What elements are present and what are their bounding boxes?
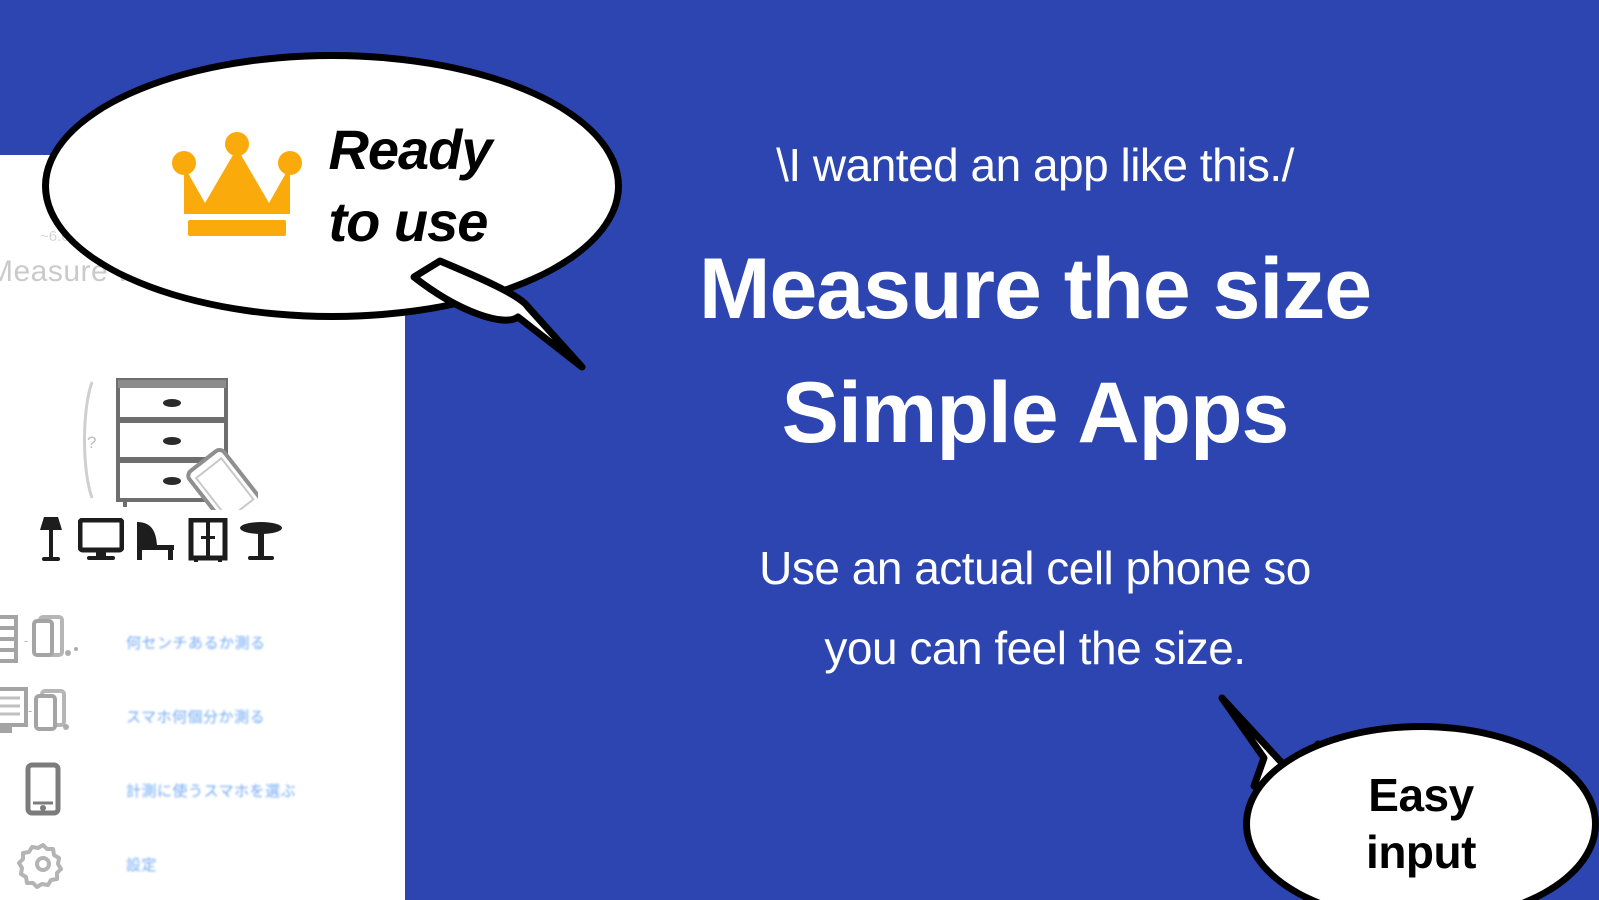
round-table-icon (238, 520, 284, 567)
headline-line-1: Measure the size (640, 227, 1430, 352)
menu-item-settings[interactable]: 設定 (0, 827, 405, 900)
ready-line-2: to use (328, 186, 491, 258)
measure-centimeters-icon: - (0, 611, 96, 673)
easy-line-1: Easy (1366, 767, 1476, 825)
svg-text:-: - (28, 703, 32, 718)
marketing-copy: \I wanted an app like this./ Measure the… (640, 140, 1430, 689)
ready-line-1: Ready (328, 114, 491, 186)
tagline: \I wanted an app like this./ (640, 140, 1430, 191)
menu-item-label: 設定 (126, 854, 157, 875)
menu-item-measure-phone-count[interactable]: - スマホ何個分か測る (0, 679, 405, 753)
subcopy: Use an actual cell phone so you can feel… (640, 528, 1430, 689)
easy-line-2: input (1366, 824, 1476, 882)
app-menu-list: - 何センチあるか測る (0, 605, 405, 900)
menu-item-select-phone[interactable]: 計測に使うスマホを選ぶ (0, 753, 405, 827)
chair-icon (134, 518, 178, 567)
easy-input-label: Easy input (1366, 767, 1476, 882)
menu-item-label: スマホ何個分か測る (126, 706, 265, 727)
chest-of-drawers-illustration: ? (78, 370, 258, 510)
measure-phone-count-icon: - (0, 685, 96, 747)
subcopy-line-2: you can feel the size. (640, 608, 1430, 689)
floor-lamp-icon (34, 514, 68, 567)
menu-item-label: 何センチあるか測る (126, 632, 266, 653)
crown-icon (172, 128, 302, 245)
ready-to-use-label: Ready to use (328, 114, 491, 257)
ready-bubble-tail (400, 255, 620, 375)
subcopy-line-1: Use an actual cell phone so (640, 528, 1430, 609)
gear-icon (0, 833, 96, 895)
svg-text:?: ? (87, 433, 96, 452)
furniture-icon-strip (34, 515, 284, 567)
wardrobe-icon (188, 518, 228, 567)
headline-line-2: Simple Apps (640, 351, 1430, 476)
menu-item-measure-centimeters[interactable]: - 何センチあるか測る (0, 605, 405, 679)
page-title: Measure the size Simple Apps (640, 227, 1430, 476)
promo-banner: ~6.6インチ Measure with ? (0, 0, 1599, 900)
menu-item-label: 計測に使うスマホを選ぶ (126, 780, 296, 801)
svg-text:-: - (24, 633, 28, 648)
television-icon (78, 518, 124, 567)
select-phone-icon (0, 759, 96, 821)
